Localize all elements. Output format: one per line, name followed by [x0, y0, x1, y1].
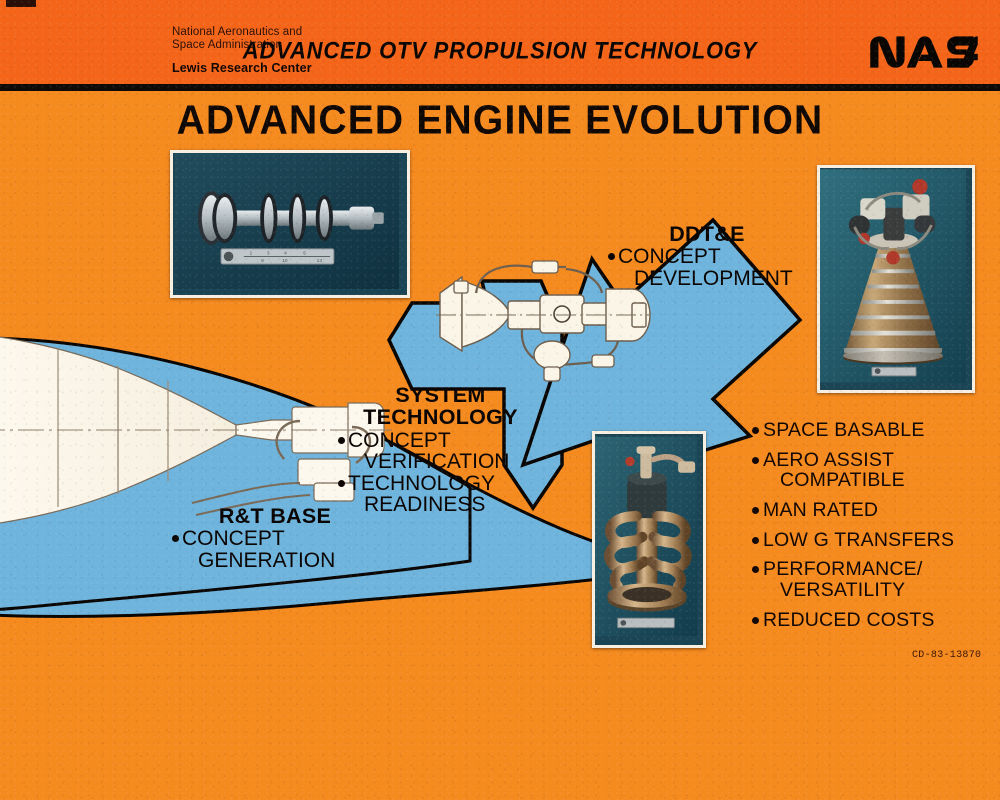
capability-line-2: VERSATILITY: [763, 580, 984, 601]
capability-line-1: MAN RATED: [763, 499, 878, 521]
bullet-dot-icon: [752, 427, 759, 434]
capability-item: PERFORMANCE/ VERSATILITY: [752, 559, 984, 600]
stage-system-technology: SYSTEM TECHNOLOGY CONCEPT VERIFICATION T…: [338, 384, 543, 515]
nasa-slide: National Aeronautics and Space Administr…: [0, 0, 1000, 800]
stage-system-technology-heading: SYSTEM TECHNOLOGY: [338, 384, 543, 429]
nasa-worm-logo-icon: [868, 34, 980, 70]
stage-system-technology-bullet-2: TECHNOLOGY READINESS: [338, 473, 543, 516]
stage-rt-base-bullet-1: CONCEPT GENERATION: [172, 528, 378, 571]
bullet-line-2: VERIFICATION: [348, 451, 509, 472]
capability-line-1: REDUCED COSTS: [763, 609, 935, 631]
capability-text: PERFORMANCE/ VERSATILITY: [763, 559, 984, 600]
bullet-line-2: GENERATION: [182, 550, 335, 571]
header-divider: [0, 84, 1000, 91]
capability-item: MAN RATED: [752, 500, 984, 521]
capability-line-1: AERO ASSIST: [763, 449, 894, 471]
stage-ddte-heading: DDT&E: [608, 223, 806, 245]
capability-item: AERO ASSIST COMPATIBLE: [752, 450, 984, 491]
bullet-line-1: TECHNOLOGY: [348, 472, 495, 495]
bullet-dot-icon: [752, 537, 759, 544]
stage-system-technology-bullet-2-text: TECHNOLOGY READINESS: [348, 473, 495, 516]
stage-system-technology-bullet-1-text: CONCEPT VERIFICATION: [348, 430, 509, 473]
capability-text: LOW G TRANSFERS: [763, 530, 984, 551]
bullet-dot-icon: [752, 617, 759, 624]
svg-text:10: 10: [282, 258, 288, 264]
stage-rt-base-bullet-1-text: CONCEPT GENERATION: [182, 528, 335, 571]
bullet-dot-icon: [338, 480, 345, 487]
svg-text:5: 5: [303, 251, 306, 257]
bullet-dot-icon: [608, 253, 615, 260]
capability-list: SPACE BASABLE AERO ASSIST COMPATIBLE MAN…: [752, 420, 984, 639]
advanced-otv-engine-photo: [817, 165, 975, 393]
capability-text: SPACE BASABLE: [763, 420, 984, 441]
bullet-dot-icon: [172, 535, 179, 542]
stage-system-technology-bullet-1: CONCEPT VERIFICATION: [338, 430, 543, 473]
document-id-code: CD-83-13870: [912, 650, 981, 661]
program-title: ADVANCED OTV PROPULSION TECHNOLOGY: [0, 37, 1000, 65]
stage-ddte: DDT&E CONCEPT DEVELOPMENT: [608, 223, 806, 289]
bullet-line-1: CONCEPT: [618, 245, 721, 268]
capability-line-2: COMPATIBLE: [763, 470, 984, 491]
svg-text:13: 13: [317, 258, 323, 264]
svg-text:1: 1: [250, 251, 253, 257]
svg-text:8: 8: [261, 258, 264, 264]
svg-text:3: 3: [267, 251, 270, 257]
stage-ddte-bullet-1: CONCEPT DEVELOPMENT: [608, 246, 806, 289]
capability-item: LOW G TRANSFERS: [752, 530, 984, 551]
heading-line-1: SYSTEM: [338, 384, 543, 406]
bullet-line-1: CONCEPT: [348, 429, 451, 452]
thrust-chamber-assembly-photo: [592, 431, 706, 648]
stage-ddte-bullet-1-text: CONCEPT DEVELOPMENT: [618, 246, 793, 289]
bullet-dot-icon: [752, 507, 759, 514]
corner-registration-mark: [6, 0, 36, 7]
bullet-line-2: DEVELOPMENT: [618, 268, 793, 289]
capability-line-1: LOW G TRANSFERS: [763, 529, 954, 551]
capability-text: AERO ASSIST COMPATIBLE: [763, 450, 984, 491]
bullet-line-1: CONCEPT: [182, 527, 285, 550]
svg-text:4: 4: [284, 251, 287, 257]
capability-item: REDUCED COSTS: [752, 610, 984, 631]
capability-text: MAN RATED: [763, 500, 984, 521]
turbopump-rotor-photo: 13 45 810 13: [170, 150, 410, 298]
capability-item: SPACE BASABLE: [752, 420, 984, 441]
bullet-line-2: READINESS: [348, 494, 495, 515]
capability-line-1: PERFORMANCE/: [763, 558, 923, 580]
capability-text: REDUCED COSTS: [763, 610, 984, 631]
bullet-dot-icon: [752, 566, 759, 573]
bullet-dot-icon: [752, 457, 759, 464]
heading-line-2: TECHNOLOGY: [338, 406, 543, 428]
bullet-dot-icon: [338, 437, 345, 444]
capability-line-1: SPACE BASABLE: [763, 419, 925, 441]
